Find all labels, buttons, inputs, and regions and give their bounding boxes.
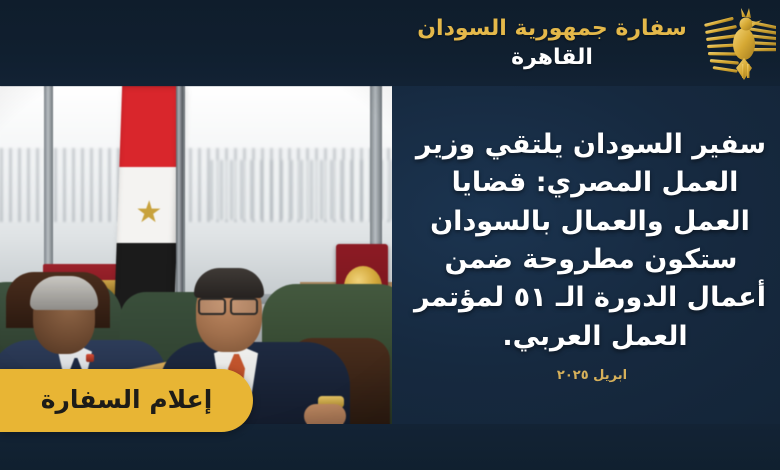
person-right-hair	[194, 268, 264, 298]
headline-line: العمل والعمال بالسودان	[404, 203, 776, 241]
headline-line: أعمال الدورة الـ ٥١ لمؤتمر	[404, 279, 776, 317]
headline-line: العمل العربي.	[404, 318, 780, 356]
sudan-emblem-icon	[702, 2, 776, 82]
person-right-glasses-icon	[198, 298, 258, 311]
embassy-media-button-label: إعلام السفارة	[41, 385, 213, 416]
card-header: سفارة جمهورية السودان القاهرة	[0, 0, 780, 86]
header-text-block: سفارة جمهورية السودان القاهرة	[402, 16, 702, 71]
embassy-media-button[interactable]: إعلام السفارة	[0, 369, 253, 432]
egypt-flag-icon: ★	[114, 86, 182, 324]
headline-line: سفير السودان يلتقي وزير	[404, 126, 778, 164]
person-right-hand	[304, 404, 346, 424]
news-card: سفارة جمهورية السودان القاهرة ★	[0, 0, 780, 470]
headline-line: ستكون مطروحة ضمن	[404, 241, 778, 279]
outside-building-2	[210, 160, 392, 220]
publication-date: ابريل ٢٠٢٥	[492, 368, 692, 383]
person-left-lapel-pin	[86, 354, 94, 362]
organization-city: القاهرة	[402, 45, 702, 71]
eagle-of-saladin-icon: ★	[133, 194, 164, 232]
organization-name: سفارة جمهورية السودان	[402, 16, 702, 42]
headline-line: العمل المصري: قضايا	[404, 164, 780, 202]
headline: سفير السودان يلتقي وزير العمل المصري: قض…	[404, 126, 780, 356]
